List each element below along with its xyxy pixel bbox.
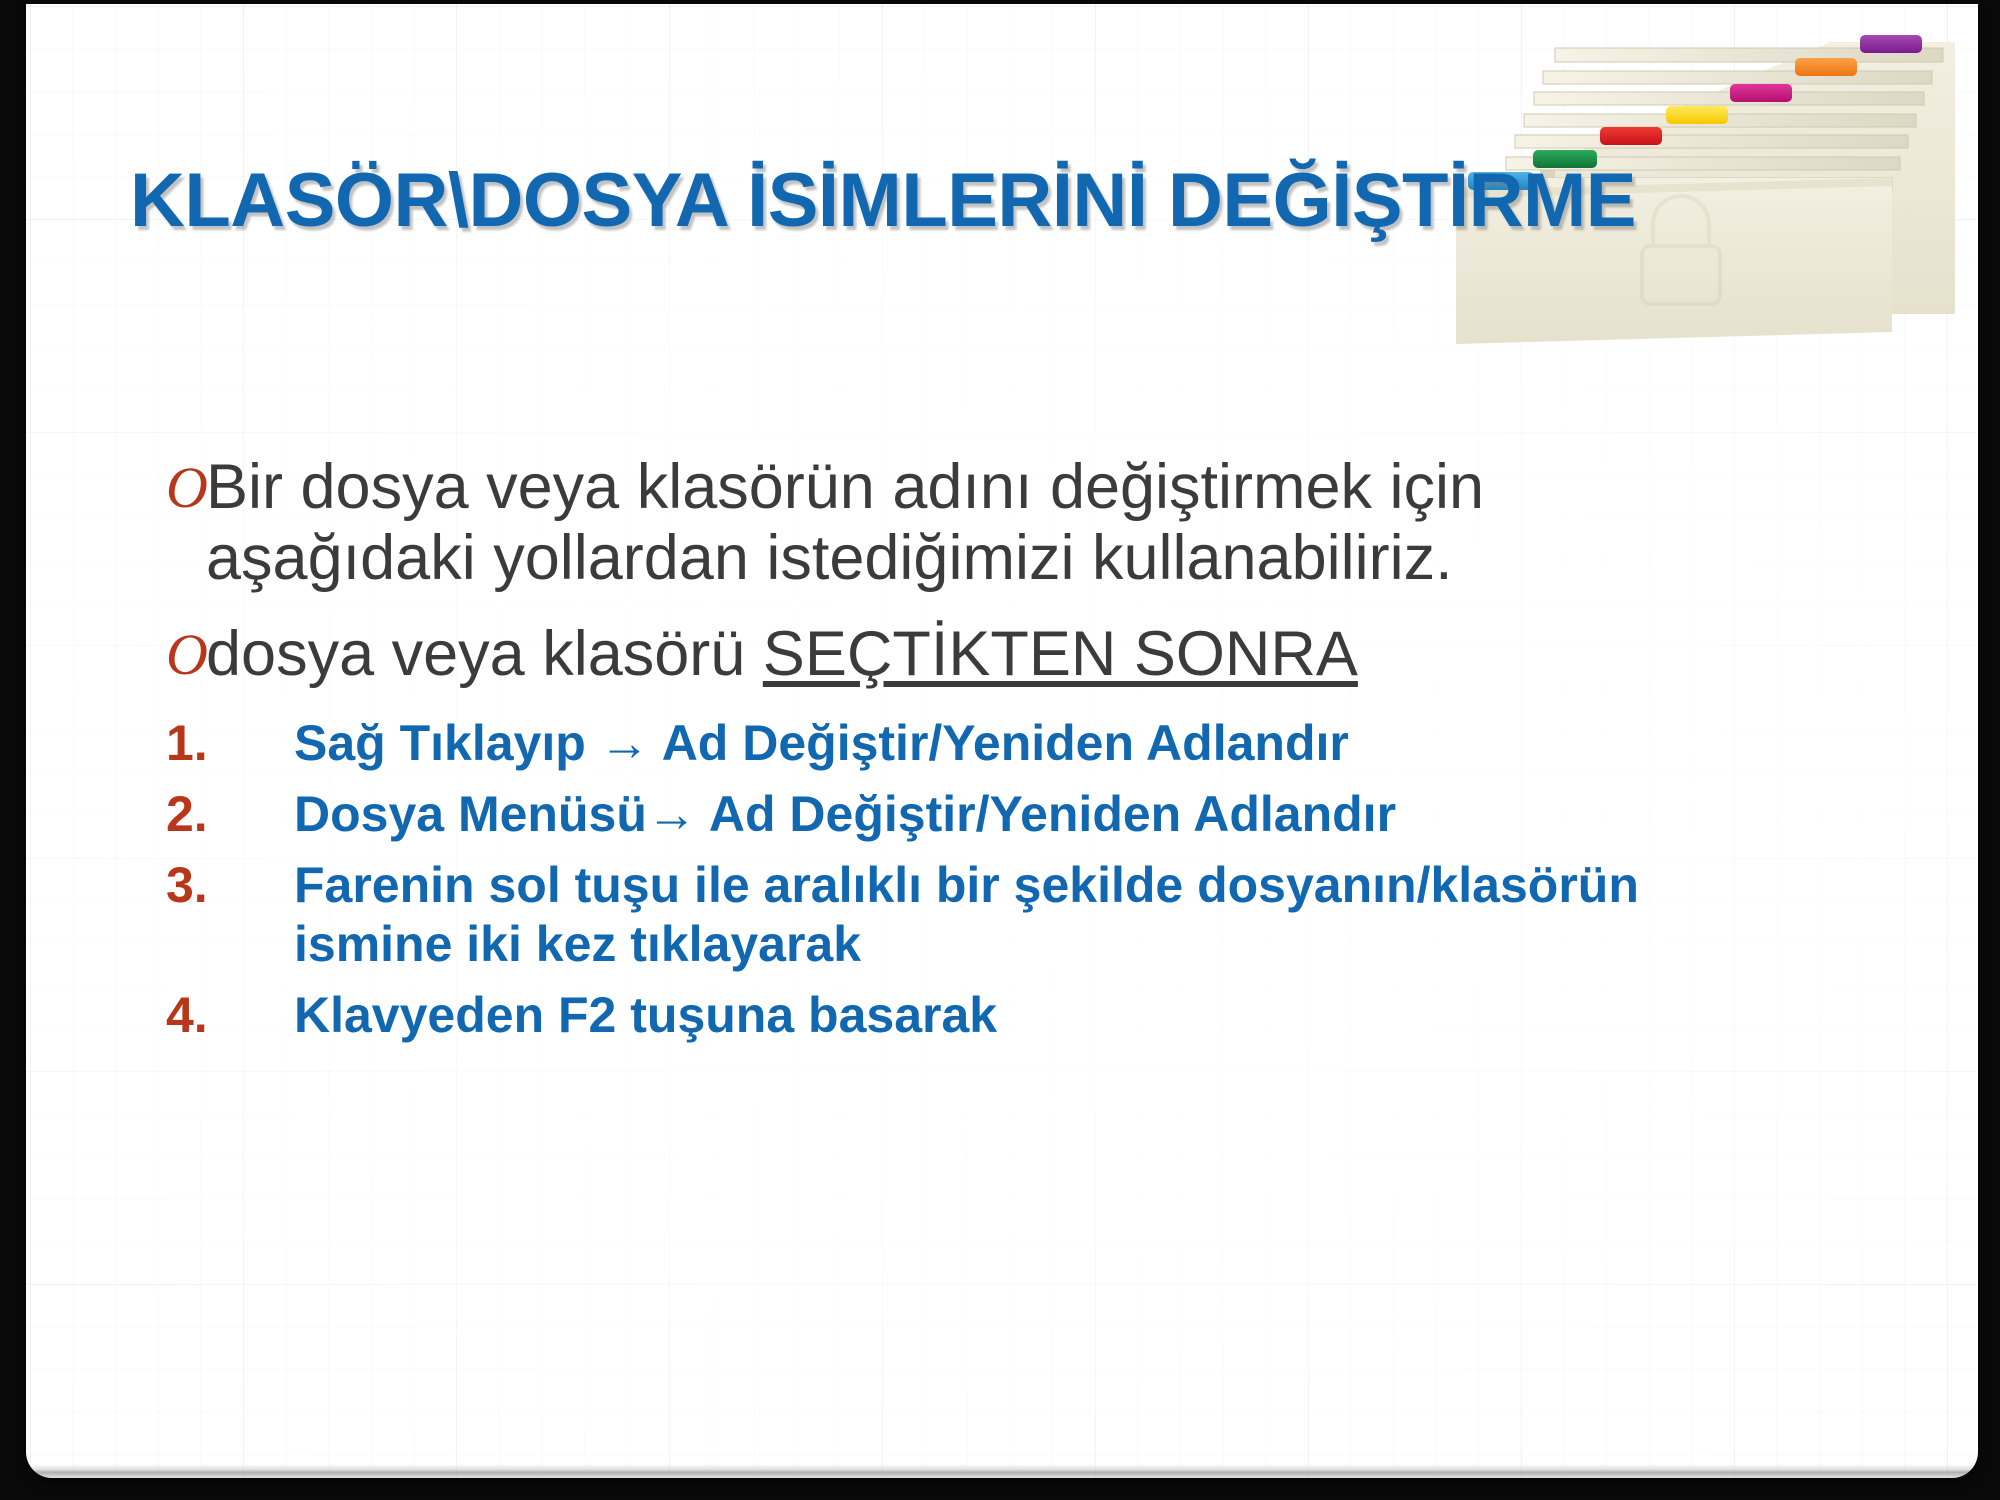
list-item-number: 4. [166,986,294,1045]
slide-frame: KLASÖR\DOSYA İSİMLERİNİ DEĞİŞTİRME O Bir… [0,0,2000,1500]
bullet-paragraph-2-text: dosya veya klasörü SEÇTİKTEN SONRA [206,619,1696,690]
list-item-number: 3. [166,856,294,915]
list-item-label: Sağ Tıklayıp → Ad Değiştir/Yeniden Adlan… [294,714,1714,773]
bullet-paragraph-2: O dosya veya klasörü SEÇTİKTEN SONRA [166,619,1936,690]
list-item: 1. Sağ Tıklayıp → Ad Değiştir/Yeniden Ad… [166,714,1936,773]
list-item-label: Farenin sol tuşu ile aralıklı bir şekild… [294,856,1714,974]
slide-title: KLASÖR\DOSYA İSİMLERİNİ DEĞİŞTİRME [130,162,1830,240]
list-item-label: Dosya Menüsü→ Ad Değiştir/Yeniden Adland… [294,785,1714,844]
slide-canvas: KLASÖR\DOSYA İSİMLERİNİ DEĞİŞTİRME O Bir… [26,4,1978,1478]
bullet-paragraph-1: O Bir dosya veya klasörün adını değiştir… [166,452,1936,593]
list-item-number: 1. [166,714,294,773]
list-item: 4. Klavyeden F2 tuşuna basarak [166,986,1936,1045]
paragraph-2-plain-part: dosya veya klasörü [206,619,763,689]
bullet-marker-icon: O [166,621,206,689]
list-item: 3. Farenin sol tuşu ile aralıklı bir şek… [166,856,1936,974]
slide-body: O Bir dosya veya klasörün adını değiştir… [166,452,1936,1061]
list-item: 2. Dosya Menüsü→ Ad Değiştir/Yeniden Adl… [166,785,1936,844]
paragraph-2-underlined-part: SEÇTİKTEN SONRA [763,619,1358,689]
list-item-label: Klavyeden F2 tuşuna basarak [294,986,1714,1045]
bullet-marker-icon: O [166,454,206,522]
slide-bottom-bevel [26,1464,1978,1478]
list-item-number: 2. [166,785,294,844]
bullet-paragraph-1-text: Bir dosya veya klasörün adını değiştirme… [206,452,1696,593]
numbered-methods-list: 1. Sağ Tıklayıp → Ad Değiştir/Yeniden Ad… [166,714,1936,1045]
